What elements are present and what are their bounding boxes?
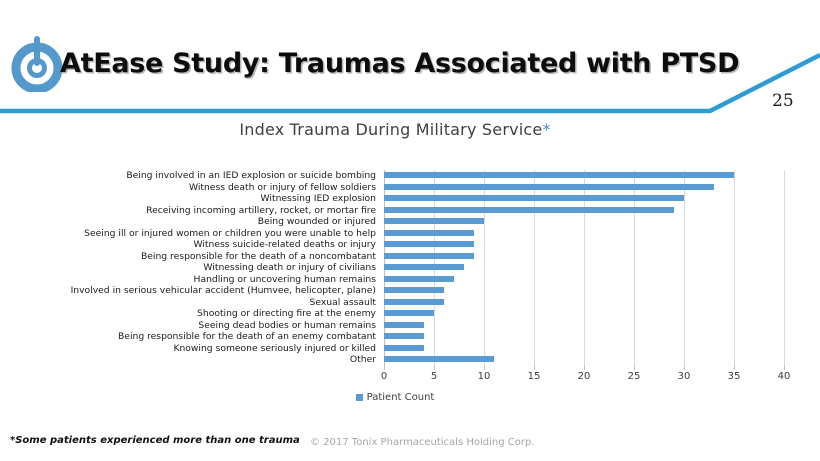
bar[interactable] <box>384 241 474 247</box>
tick-label-30: 30 <box>678 371 691 382</box>
bar[interactable] <box>384 299 444 305</box>
category-label: Being wounded or injured <box>258 216 376 227</box>
bar[interactable] <box>384 172 734 178</box>
bar[interactable] <box>384 322 424 328</box>
bar-row[interactable] <box>384 262 784 273</box>
bar-row[interactable] <box>384 182 784 193</box>
tick-mark-20 <box>584 366 585 370</box>
value-axis: 0510152025303540 <box>384 366 784 388</box>
category-label: Being responsible for the death of an en… <box>118 331 376 342</box>
category-label: Being responsible for the death of a non… <box>141 251 376 262</box>
category-label: Seeing ill or injured women or children … <box>84 228 376 239</box>
bar-row[interactable] <box>384 285 784 296</box>
bar[interactable] <box>384 264 464 270</box>
tick-label-25: 25 <box>628 371 641 382</box>
bar-row[interactable] <box>384 193 784 204</box>
footnote: *Some patients experienced more than one… <box>10 435 300 446</box>
chart-title: Index Trauma During Military Service* <box>0 120 790 139</box>
bar-row[interactable] <box>384 239 784 250</box>
category-label: Sexual assault <box>310 297 377 308</box>
legend-label-patient-count: Patient Count <box>367 392 435 403</box>
tick-mark-40 <box>784 366 785 370</box>
tick-label-0: 0 <box>381 371 387 382</box>
bar[interactable] <box>384 345 424 351</box>
bar[interactable] <box>384 333 424 339</box>
bar-row[interactable] <box>384 343 784 354</box>
bar[interactable] <box>384 356 494 362</box>
bar-row[interactable] <box>384 251 784 262</box>
copyright-notice: © 2017 Tonix Pharmaceuticals Holding Cor… <box>310 437 534 448</box>
category-label: Witness suicide-related deaths or injury <box>193 239 376 250</box>
tick-label-35: 35 <box>728 371 741 382</box>
category-label: Shooting or directing fire at the enemy <box>197 308 376 319</box>
bar-row[interactable] <box>384 274 784 285</box>
category-label: Receiving incoming artillery, rocket, or… <box>146 205 376 216</box>
chart-region: Index Trauma During Military Service* Be… <box>0 112 820 417</box>
chart-title-asterisk: * <box>542 120 550 139</box>
category-label: Witness death or injury of fellow soldie… <box>189 182 376 193</box>
category-label: Knowing someone seriously injured or kil… <box>173 343 376 354</box>
bar-row[interactable] <box>384 308 784 319</box>
bar[interactable] <box>384 287 444 293</box>
chart-legend: Patient Count <box>0 392 790 403</box>
bar-row[interactable] <box>384 320 784 331</box>
category-label: Other <box>350 354 376 365</box>
tick-mark-10 <box>484 366 485 370</box>
bar[interactable] <box>384 253 474 259</box>
category-label: Involved in serious vehicular accident (… <box>71 285 376 296</box>
bar[interactable] <box>384 184 714 190</box>
tonix-power-logo-icon <box>8 30 66 92</box>
bar[interactable] <box>384 195 684 201</box>
bar-row[interactable] <box>384 216 784 227</box>
page-title: AtEase Study: Traumas Associated with PT… <box>60 48 739 79</box>
bar-row[interactable] <box>384 331 784 342</box>
bar[interactable] <box>384 310 434 316</box>
bar[interactable] <box>384 218 484 224</box>
category-label: Witnessing death or injury of civilians <box>203 262 376 273</box>
bar[interactable] <box>384 230 474 236</box>
tick-label-40: 40 <box>778 371 791 382</box>
chart-title-text: Index Trauma During Military Service <box>239 120 542 139</box>
category-label: Witnessing IED explosion <box>261 193 376 204</box>
tick-label-10: 10 <box>478 371 491 382</box>
bar-row[interactable] <box>384 354 784 365</box>
category-axis-labels: Being involved in an IED explosion or su… <box>0 170 380 366</box>
bar[interactable] <box>384 276 454 282</box>
tick-mark-5 <box>434 366 435 370</box>
tick-label-20: 20 <box>578 371 591 382</box>
bar-row[interactable] <box>384 228 784 239</box>
tick-label-5: 5 <box>431 371 437 382</box>
tick-mark-30 <box>684 366 685 370</box>
plot-area <box>384 170 784 366</box>
legend-swatch-patient-count <box>356 394 363 401</box>
tick-mark-35 <box>734 366 735 370</box>
tick-mark-0 <box>384 366 385 370</box>
bar-row[interactable] <box>384 297 784 308</box>
tick-mark-25 <box>634 366 635 370</box>
tick-mark-15 <box>534 366 535 370</box>
category-label: Seeing dead bodies or human remains <box>198 320 376 331</box>
category-label: Being involved in an IED explosion or su… <box>126 170 376 181</box>
slide-number: 25 <box>772 91 794 111</box>
tick-label-15: 15 <box>528 371 541 382</box>
gridline-40 <box>784 170 785 366</box>
category-label: Handling or uncovering human remains <box>194 274 376 285</box>
bar[interactable] <box>384 207 674 213</box>
bar-row[interactable] <box>384 205 784 216</box>
bar-row[interactable] <box>384 170 784 181</box>
slide-header: AtEase Study: Traumas Associated with PT… <box>0 0 820 118</box>
